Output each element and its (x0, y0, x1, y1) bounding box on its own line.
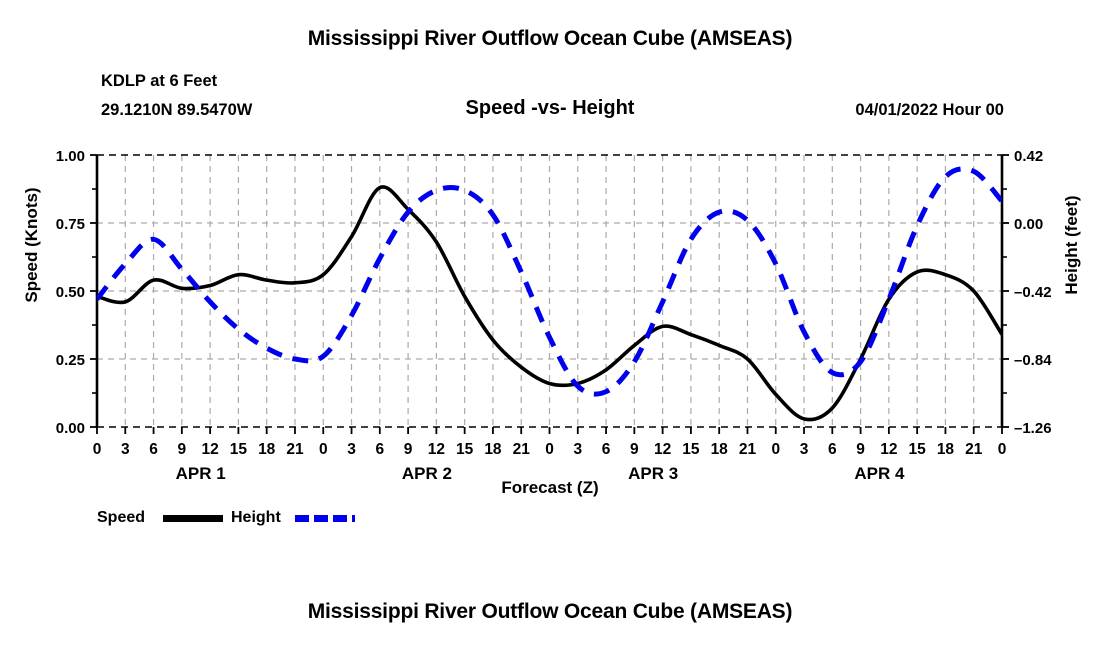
x-tick-label: 9 (404, 441, 413, 458)
legend-swatch-height (295, 515, 355, 522)
x-tick-label: 15 (230, 441, 248, 458)
x-tick-label: 18 (258, 441, 276, 458)
x-tick-label: 9 (630, 441, 639, 458)
y-tick-label-left: 0.75 (56, 216, 85, 233)
x-tick-label: 3 (800, 441, 809, 458)
x-tick-label: 0 (998, 441, 1007, 458)
y-tick-label-left: 0.00 (56, 420, 85, 437)
x-tick-label: 0 (319, 441, 328, 458)
x-tick-label: 18 (937, 441, 955, 458)
y-tick-label-right: 0.00 (1014, 216, 1043, 233)
y-tick-label-right: –1.26 (1014, 420, 1052, 437)
x-day-label: APR 2 (402, 464, 452, 483)
x-tick-label: 21 (965, 441, 983, 458)
chart-page: Mississippi River Outflow Ocean Cube (AM… (0, 0, 1100, 650)
y-tick-label-right: –0.42 (1014, 284, 1052, 301)
x-day-label: APR 4 (854, 464, 905, 483)
y-tick-label-right: –0.84 (1014, 352, 1052, 369)
legend-label-speed: Speed (97, 509, 145, 527)
x-tick-label: 9 (856, 441, 865, 458)
y-tick-label-left: 1.00 (56, 148, 85, 165)
x-tick-label: 9 (178, 441, 187, 458)
x-tick-label: 3 (573, 441, 582, 458)
x-tick-label: 21 (513, 441, 531, 458)
footer-title: Mississippi River Outflow Ocean Cube (AM… (0, 600, 1100, 624)
x-tick-label: 18 (711, 441, 729, 458)
x-tick-label: 0 (93, 441, 102, 458)
x-tick-label: 6 (828, 441, 837, 458)
x-day-label: APR 3 (628, 464, 678, 483)
x-tick-label: 15 (456, 441, 474, 458)
x-tick-label: 6 (376, 441, 385, 458)
y-tick-label-left: 0.25 (56, 352, 85, 369)
x-tick-label: 3 (121, 441, 130, 458)
x-tick-label: 0 (545, 441, 554, 458)
x-tick-label: 18 (484, 441, 502, 458)
chart-plot-area: 0.000.250.500.751.00–1.26–0.84–0.420.000… (0, 0, 1100, 650)
x-tick-label: 6 (149, 441, 158, 458)
x-tick-label: 0 (771, 441, 780, 458)
x-tick-label: 15 (909, 441, 927, 458)
x-tick-label: 15 (682, 441, 700, 458)
x-tick-label: 21 (286, 441, 304, 458)
x-tick-label: 12 (880, 441, 897, 458)
x-tick-label: 12 (654, 441, 671, 458)
x-day-label: APR 1 (176, 464, 226, 483)
y-tick-label-left: 0.50 (56, 284, 85, 301)
x-tick-label: 6 (602, 441, 611, 458)
x-tick-label: 21 (739, 441, 757, 458)
x-tick-label: 12 (202, 441, 219, 458)
x-tick-label: 12 (428, 441, 445, 458)
x-tick-label: 3 (347, 441, 356, 458)
y-tick-label-right: 0.42 (1014, 148, 1043, 165)
legend-label-height: Height (231, 509, 281, 527)
legend-swatch-speed (163, 515, 223, 522)
